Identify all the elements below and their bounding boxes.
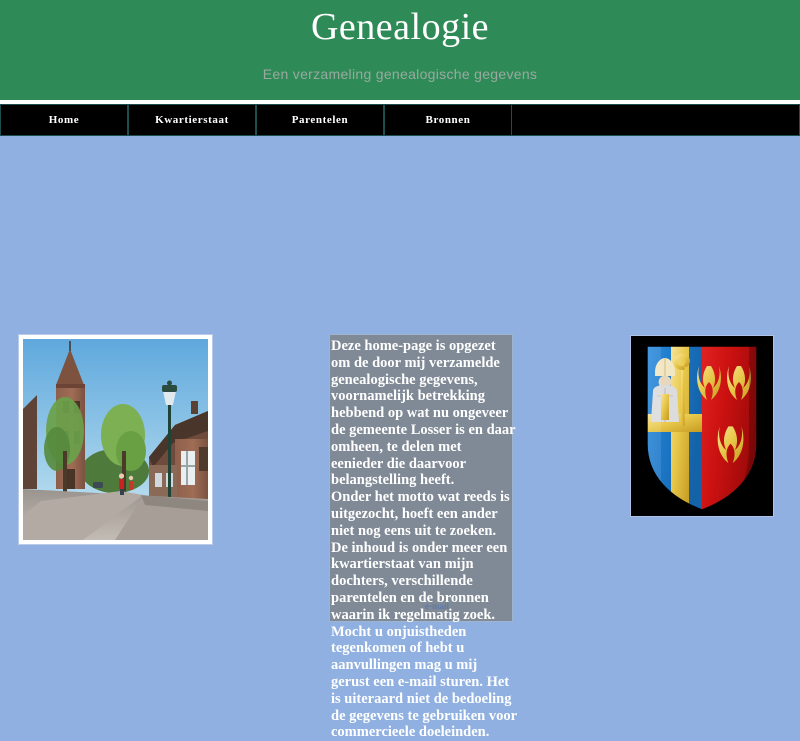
nav-item-home[interactable]: Home (0, 104, 128, 136)
intro-text: Deze home-page is opgezet om de door mij… (331, 338, 517, 741)
nav-item-bronnen[interactable]: Bronnen (384, 104, 512, 136)
intro-paragraph-4: Mocht u onjuistheden tegenkomen of hebt … (331, 624, 517, 741)
coat-of-arms-losser-icon (631, 336, 773, 516)
main-navigation: Home Kwartierstaat Parentelen Bronnen (0, 104, 800, 136)
coat-of-arms-frame (630, 335, 774, 517)
site-header-banner: Genealogie Een verzameling genealogische… (0, 0, 800, 100)
intro-paragraph-2: Onder het motto wat reeds is uitgezocht,… (331, 489, 517, 539)
email-link-placeholder[interactable]: e-mail (424, 602, 450, 611)
page-content: Deze home-page is opgezet om de door mij… (0, 136, 800, 600)
village-photo-frame (18, 334, 213, 545)
photo-village-street-icon (23, 339, 208, 540)
page-subtitle: Een verzameling genealogische gegevens (0, 48, 800, 82)
intro-paragraph-1: Deze home-page is opgezet om de door mij… (331, 338, 517, 489)
nav-item-parentelen[interactable]: Parentelen (256, 104, 384, 136)
nav-item-kwartierstaat[interactable]: Kwartierstaat (128, 104, 256, 136)
nav-empty-cell (512, 104, 800, 136)
page-title: Genealogie (0, 0, 800, 48)
